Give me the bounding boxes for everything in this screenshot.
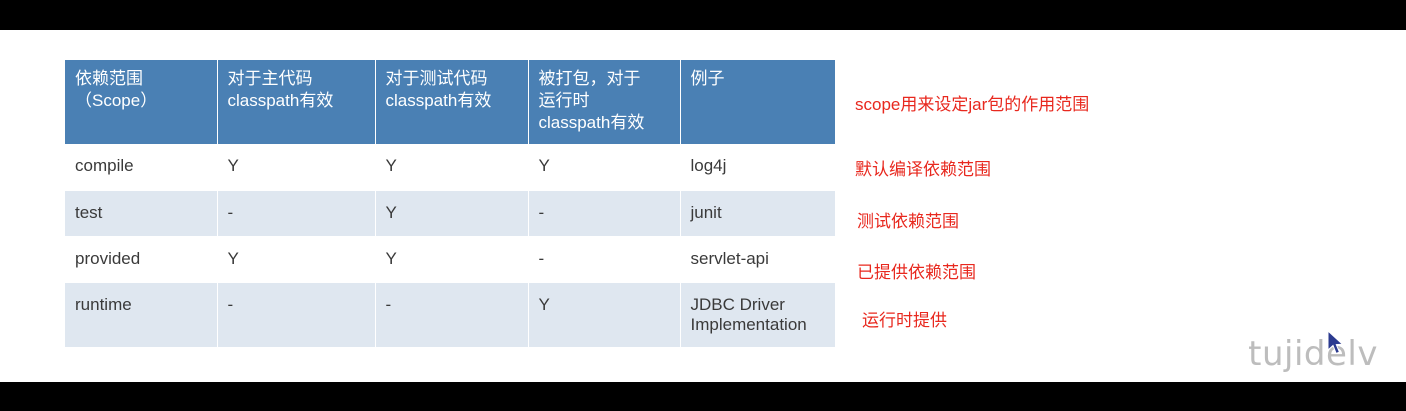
column-header-runtime-classpath: 被打包，对于 运行时 classpath有效: [528, 60, 680, 144]
cell-example: junit: [680, 190, 835, 236]
cell-runtime: -: [528, 190, 680, 236]
column-header-test-classpath-line-1: 对于测试代码: [386, 68, 518, 90]
annotation-compile: 默认编译依赖范围: [855, 155, 991, 180]
slide-canvas: 依赖范围 （Scope） 对于主代码 classpath有效 对于测试代码 cl…: [0, 30, 1406, 382]
annotation-scope-purpose: scope用来设定jar包的作用范围: [855, 90, 1089, 115]
column-header-main-classpath: 对于主代码 classpath有效: [217, 60, 375, 144]
cell-runtime: Y: [528, 282, 680, 347]
column-header-scope: 依赖范围 （Scope）: [65, 60, 217, 144]
cell-test: Y: [375, 144, 528, 190]
cell-main: -: [217, 282, 375, 347]
column-header-example: 例子: [680, 60, 835, 144]
cell-scope: provided: [65, 236, 217, 282]
table-row: test - Y - junit: [65, 190, 835, 236]
column-header-runtime-classpath-line-1: 被打包，对于: [539, 68, 670, 90]
cell-main: Y: [217, 236, 375, 282]
column-header-test-classpath: 对于测试代码 classpath有效: [375, 60, 528, 144]
cell-main: -: [217, 190, 375, 236]
mouse-cursor-icon: [1327, 330, 1345, 356]
annotation-runtime: 运行时提供: [862, 306, 947, 331]
column-header-main-classpath-line-1: 对于主代码: [228, 68, 365, 90]
cell-runtime: -: [528, 236, 680, 282]
dependency-scope-table: 依赖范围 （Scope） 对于主代码 classpath有效 对于测试代码 cl…: [65, 60, 835, 347]
cell-test: Y: [375, 190, 528, 236]
cell-example: servlet-api: [680, 236, 835, 282]
column-header-runtime-classpath-line-3: classpath有效: [539, 112, 670, 134]
table-row: provided Y Y - servlet-api: [65, 236, 835, 282]
table-header-row: 依赖范围 （Scope） 对于主代码 classpath有效 对于测试代码 cl…: [65, 60, 835, 144]
scope-table-container: 依赖范围 （Scope） 对于主代码 classpath有效 对于测试代码 cl…: [65, 60, 835, 347]
letterbox-top: [0, 0, 1406, 30]
cell-example: JDBC Driver Implementation: [680, 282, 835, 347]
column-header-scope-line-1: 依赖范围: [75, 68, 207, 90]
letterbox-bottom: [0, 382, 1406, 411]
cell-main: Y: [217, 144, 375, 190]
column-header-main-classpath-line-2: classpath有效: [228, 90, 365, 112]
cell-test: -: [375, 282, 528, 347]
watermark-text: tujidelv: [1248, 334, 1378, 374]
table-row: runtime - - Y JDBC Driver Implementation: [65, 282, 835, 347]
annotation-provided: 已提供依赖范围: [857, 258, 976, 283]
table-row: compile Y Y Y log4j: [65, 144, 835, 190]
cell-scope: test: [65, 190, 217, 236]
cell-scope: runtime: [65, 282, 217, 347]
column-header-example-line-1: 例子: [691, 68, 826, 90]
cell-example: log4j: [680, 144, 835, 190]
cell-runtime: Y: [528, 144, 680, 190]
cell-test: Y: [375, 236, 528, 282]
cell-scope: compile: [65, 144, 217, 190]
column-header-runtime-classpath-line-2: 运行时: [539, 90, 670, 112]
annotation-test: 测试依赖范围: [857, 207, 959, 232]
column-header-test-classpath-line-2: classpath有效: [386, 90, 518, 112]
column-header-scope-line-2: （Scope）: [75, 90, 207, 112]
